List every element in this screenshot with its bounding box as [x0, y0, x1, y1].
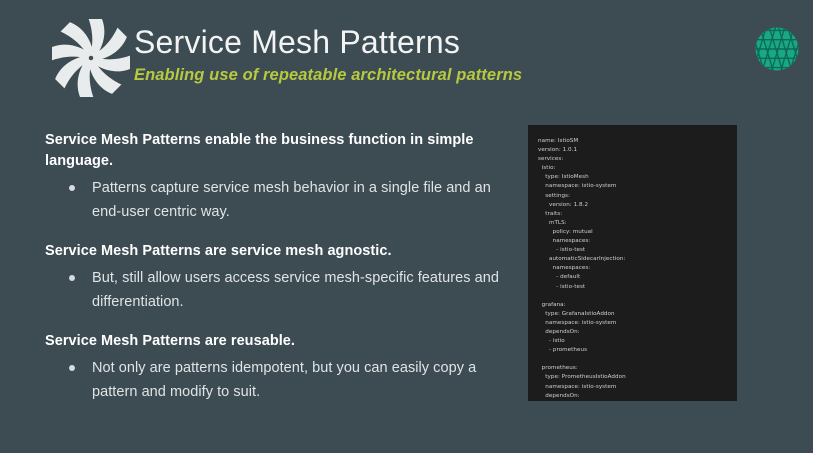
code-line: type: GrafanaIstioAddon: [538, 310, 727, 319]
content-points: Service Mesh Patterns enable the busines…: [45, 130, 500, 404]
code-line: policy: mutual: [538, 228, 727, 237]
code-line: type: IstioMesh: [538, 173, 727, 182]
bullet-dot-icon: [69, 365, 75, 371]
code-line: prometheus:: [538, 364, 727, 373]
code-line: namespace: istio-system: [538, 383, 727, 392]
code-line: traits:: [538, 210, 727, 219]
code-line: namespaces:: [538, 264, 727, 273]
code-line: dependsOn:: [538, 392, 727, 401]
bullet-text: But, still allow users access service me…: [92, 266, 500, 314]
point-heading: Service Mesh Patterns are reusable.: [45, 331, 500, 352]
point-group: Service Mesh Patterns are reusable. Not …: [45, 331, 500, 404]
code-line: dependsOn:: [538, 328, 727, 337]
slide: Service Mesh Patterns Enabling use of re…: [0, 0, 813, 453]
code-line: - default: [538, 273, 727, 282]
bullet-text: Not only are patterns idempotent, but yo…: [92, 356, 500, 404]
bullet-dot-icon: [69, 185, 75, 191]
code-line: - istio-test: [538, 246, 727, 255]
code-line: - istio-test: [538, 283, 727, 292]
layer5-mesh-circle-logo-icon: [748, 20, 806, 78]
list-item: Patterns capture service mesh behavior i…: [45, 176, 500, 224]
code-line: services:: [538, 155, 727, 164]
code-line: version: 1.8.2: [538, 201, 727, 210]
code-line: grafana:: [538, 301, 727, 310]
page-subtitle: Enabling use of repeatable architectural…: [134, 64, 554, 86]
title-block: Service Mesh Patterns Enabling use of re…: [134, 22, 554, 86]
code-line: - istio: [538, 337, 727, 346]
point-heading: Service Mesh Patterns are service mesh a…: [45, 241, 500, 262]
code-line: automaticSidecarInjection:: [538, 255, 727, 264]
code-line: namespace: istio-system: [538, 182, 727, 191]
list-item: Not only are patterns idempotent, but yo…: [45, 356, 500, 404]
code-line: - prometheus: [538, 346, 727, 355]
bullet-text: Patterns capture service mesh behavior i…: [92, 176, 500, 224]
code-line: namespaces:: [538, 237, 727, 246]
yaml-code-panel: name: IstioSMversion: 1.0.1services: ist…: [528, 125, 737, 401]
code-line: name: IstioSM: [538, 137, 727, 146]
slide-header: Service Mesh Patterns Enabling use of re…: [0, 0, 813, 105]
code-line: mTLS:: [538, 219, 727, 228]
code-line: istio:: [538, 164, 727, 173]
point-group: Service Mesh Patterns are service mesh a…: [45, 241, 500, 314]
code-line: [538, 355, 727, 364]
meshery-pinwheel-logo-icon: [52, 19, 130, 97]
code-line: [538, 292, 727, 301]
page-title: Service Mesh Patterns: [134, 22, 554, 62]
code-line: version: 1.0.1: [538, 146, 727, 155]
code-line: type: PrometheusIstioAddon: [538, 373, 727, 382]
point-group: Service Mesh Patterns enable the busines…: [45, 130, 500, 224]
code-line: settings:: [538, 192, 727, 201]
code-line: namespace: istio-system: [538, 319, 727, 328]
point-heading: Service Mesh Patterns enable the busines…: [45, 130, 500, 172]
bullet-dot-icon: [69, 275, 75, 281]
list-item: But, still allow users access service me…: [45, 266, 500, 314]
